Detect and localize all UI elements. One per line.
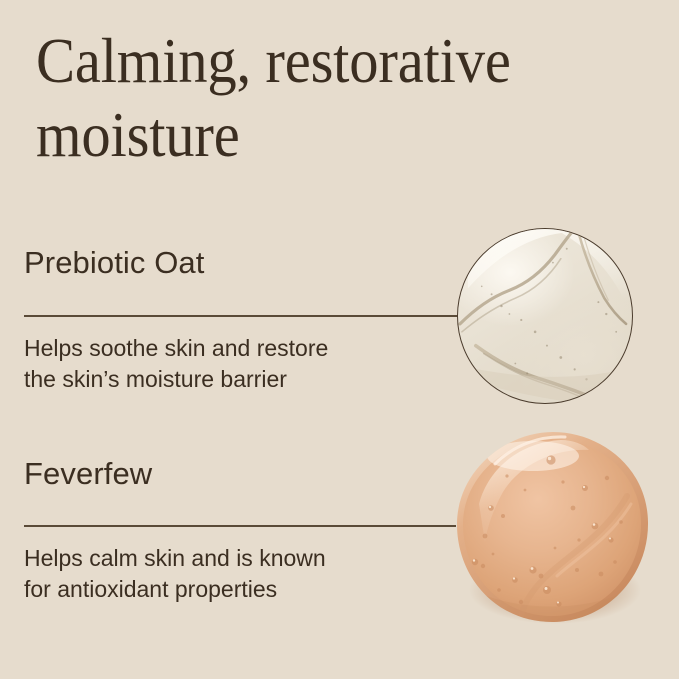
oat-powder-swatch — [457, 228, 633, 404]
ingredient-description-feverfew: Helps calm skin and is known for antioxi… — [24, 543, 444, 604]
ingredient-benefits-panel: Calming, restorative moisture Prebiotic … — [0, 0, 679, 679]
ingredient-name-oat: Prebiotic Oat — [24, 246, 464, 280]
ingredient-block-oat: Prebiotic Oat — [24, 246, 464, 280]
feverfew-gel-swatch — [455, 430, 651, 624]
gel-drop-texture-icon — [455, 430, 651, 624]
divider-rule-feverfew — [24, 525, 456, 527]
ingredient-name-feverfew: Feverfew — [24, 457, 464, 491]
ingredient-description-oat: Helps soothe skin and restore the skin’s… — [24, 333, 444, 394]
ingredient-block-feverfew: Feverfew — [24, 457, 464, 491]
page-title: Calming, restorative moisture — [36, 24, 594, 173]
divider-rule-oat — [24, 315, 458, 317]
oat-powder-texture-icon — [458, 229, 632, 403]
